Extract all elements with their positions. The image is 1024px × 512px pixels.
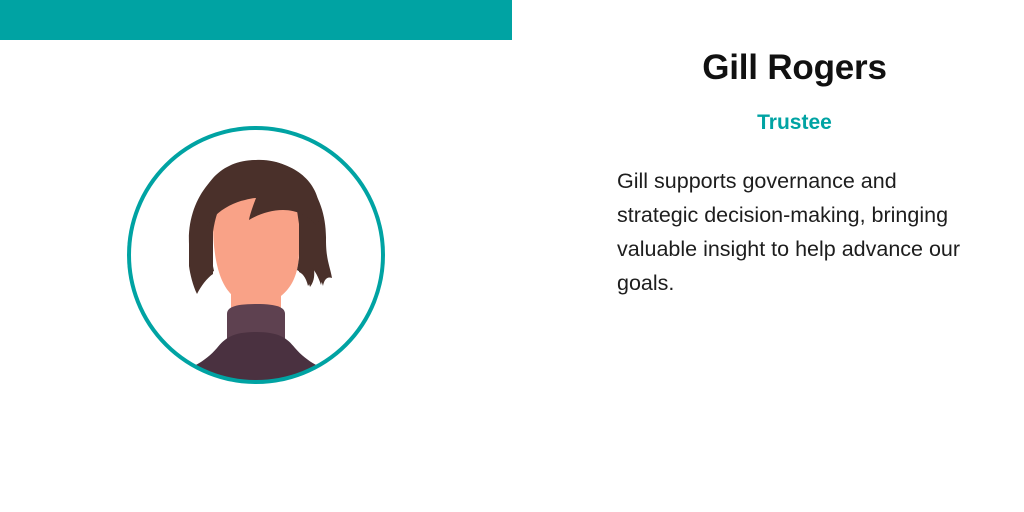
person-name: Gill Rogers [617,46,972,90]
person-role: Trustee [617,90,972,136]
avatar [127,126,385,384]
person-bio: Gill supports governance and strategic d… [617,136,972,300]
avatar-column [0,0,512,512]
avatar-illustration [127,126,385,384]
info-block: Gill Rogers Trustee Gill supports govern… [617,46,972,300]
info-column: Gill Rogers Trustee Gill supports govern… [512,0,1024,512]
profile-card: Gill Rogers Trustee Gill supports govern… [0,0,1024,512]
